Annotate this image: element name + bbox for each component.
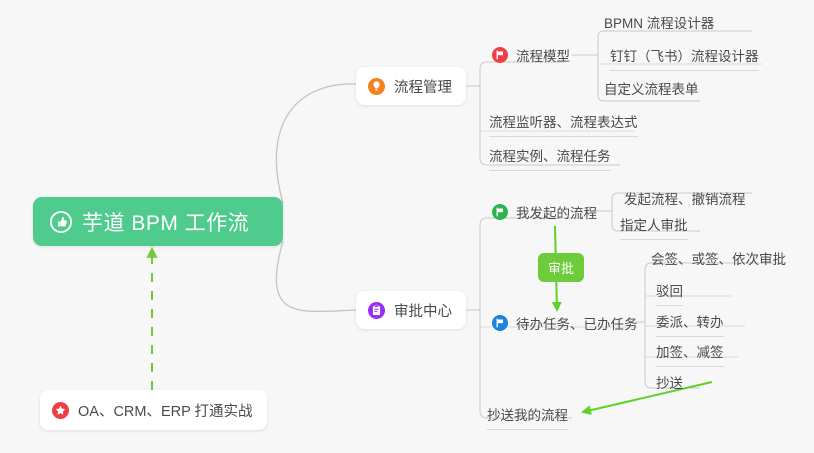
star-icon [52, 402, 69, 419]
branch-label: 审批中心 [394, 300, 452, 321]
node-todo-done-tasks[interactable]: 待办任务、已办任务 [492, 313, 638, 333]
leaf-bpmn-designer[interactable]: BPMN 流程设计器 [604, 12, 714, 37]
branch-label: 流程管理 [394, 76, 452, 97]
note-integration-practice[interactable]: OA、CRM、ERP 打通实战 [40, 390, 267, 430]
leaf-listener-expression[interactable]: 流程监听器、流程表达式 [489, 111, 638, 137]
flag-icon [492, 315, 508, 331]
node-label: 待办任务、已办任务 [516, 313, 638, 333]
node-label: 流程模型 [516, 45, 570, 65]
leaf-instance-task[interactable]: 流程实例、流程任务 [489, 145, 611, 171]
leaf-countersign-or-sequential[interactable]: 会签、或签、依次审批 [651, 248, 786, 273]
root-node[interactable]: 芋道 BPM 工作流 [33, 197, 283, 246]
leaf-reject[interactable]: 驳回 [656, 280, 683, 306]
node-process-model[interactable]: 流程模型 [492, 45, 570, 65]
leaf-cc[interactable]: 抄送 [656, 372, 683, 397]
node-my-initiated[interactable]: 我发起的流程 [492, 202, 597, 222]
note-label: OA、CRM、ERP 打通实战 [78, 400, 253, 421]
flag-icon [492, 47, 508, 63]
thumbs-up-icon [50, 211, 72, 233]
lightbulb-icon [368, 78, 385, 95]
branch-process-management[interactable]: 流程管理 [356, 67, 466, 105]
leaf-add-remove-sign[interactable]: 加签、减签 [656, 341, 724, 367]
leaf-assignee-approval[interactable]: 指定人审批 [620, 214, 688, 240]
flag-icon [492, 204, 508, 220]
root-label: 芋道 BPM 工作流 [82, 207, 249, 237]
leaf-delegate-transfer[interactable]: 委派、转办 [656, 311, 724, 337]
node-label: 我发起的流程 [516, 202, 597, 222]
annotation-approval-tag: 审批 [538, 253, 584, 282]
leaf-cc-to-me[interactable]: 抄送我的流程 [487, 404, 568, 430]
clipboard-icon [368, 302, 385, 319]
leaf-start-cancel-process[interactable]: 发起流程、撤销流程 [624, 188, 746, 213]
branch-approval-center[interactable]: 审批中心 [356, 291, 466, 329]
leaf-dingtalk-feishu-designer[interactable]: 钉钉（飞书）流程设计器 [610, 45, 759, 71]
leaf-custom-process-form[interactable]: 自定义流程表单 [604, 78, 699, 103]
mindmap-canvas: 芋道 BPM 工作流 流程管理 流程模型 BPMN 流程设计器 钉钉（飞书）流程… [0, 0, 814, 453]
